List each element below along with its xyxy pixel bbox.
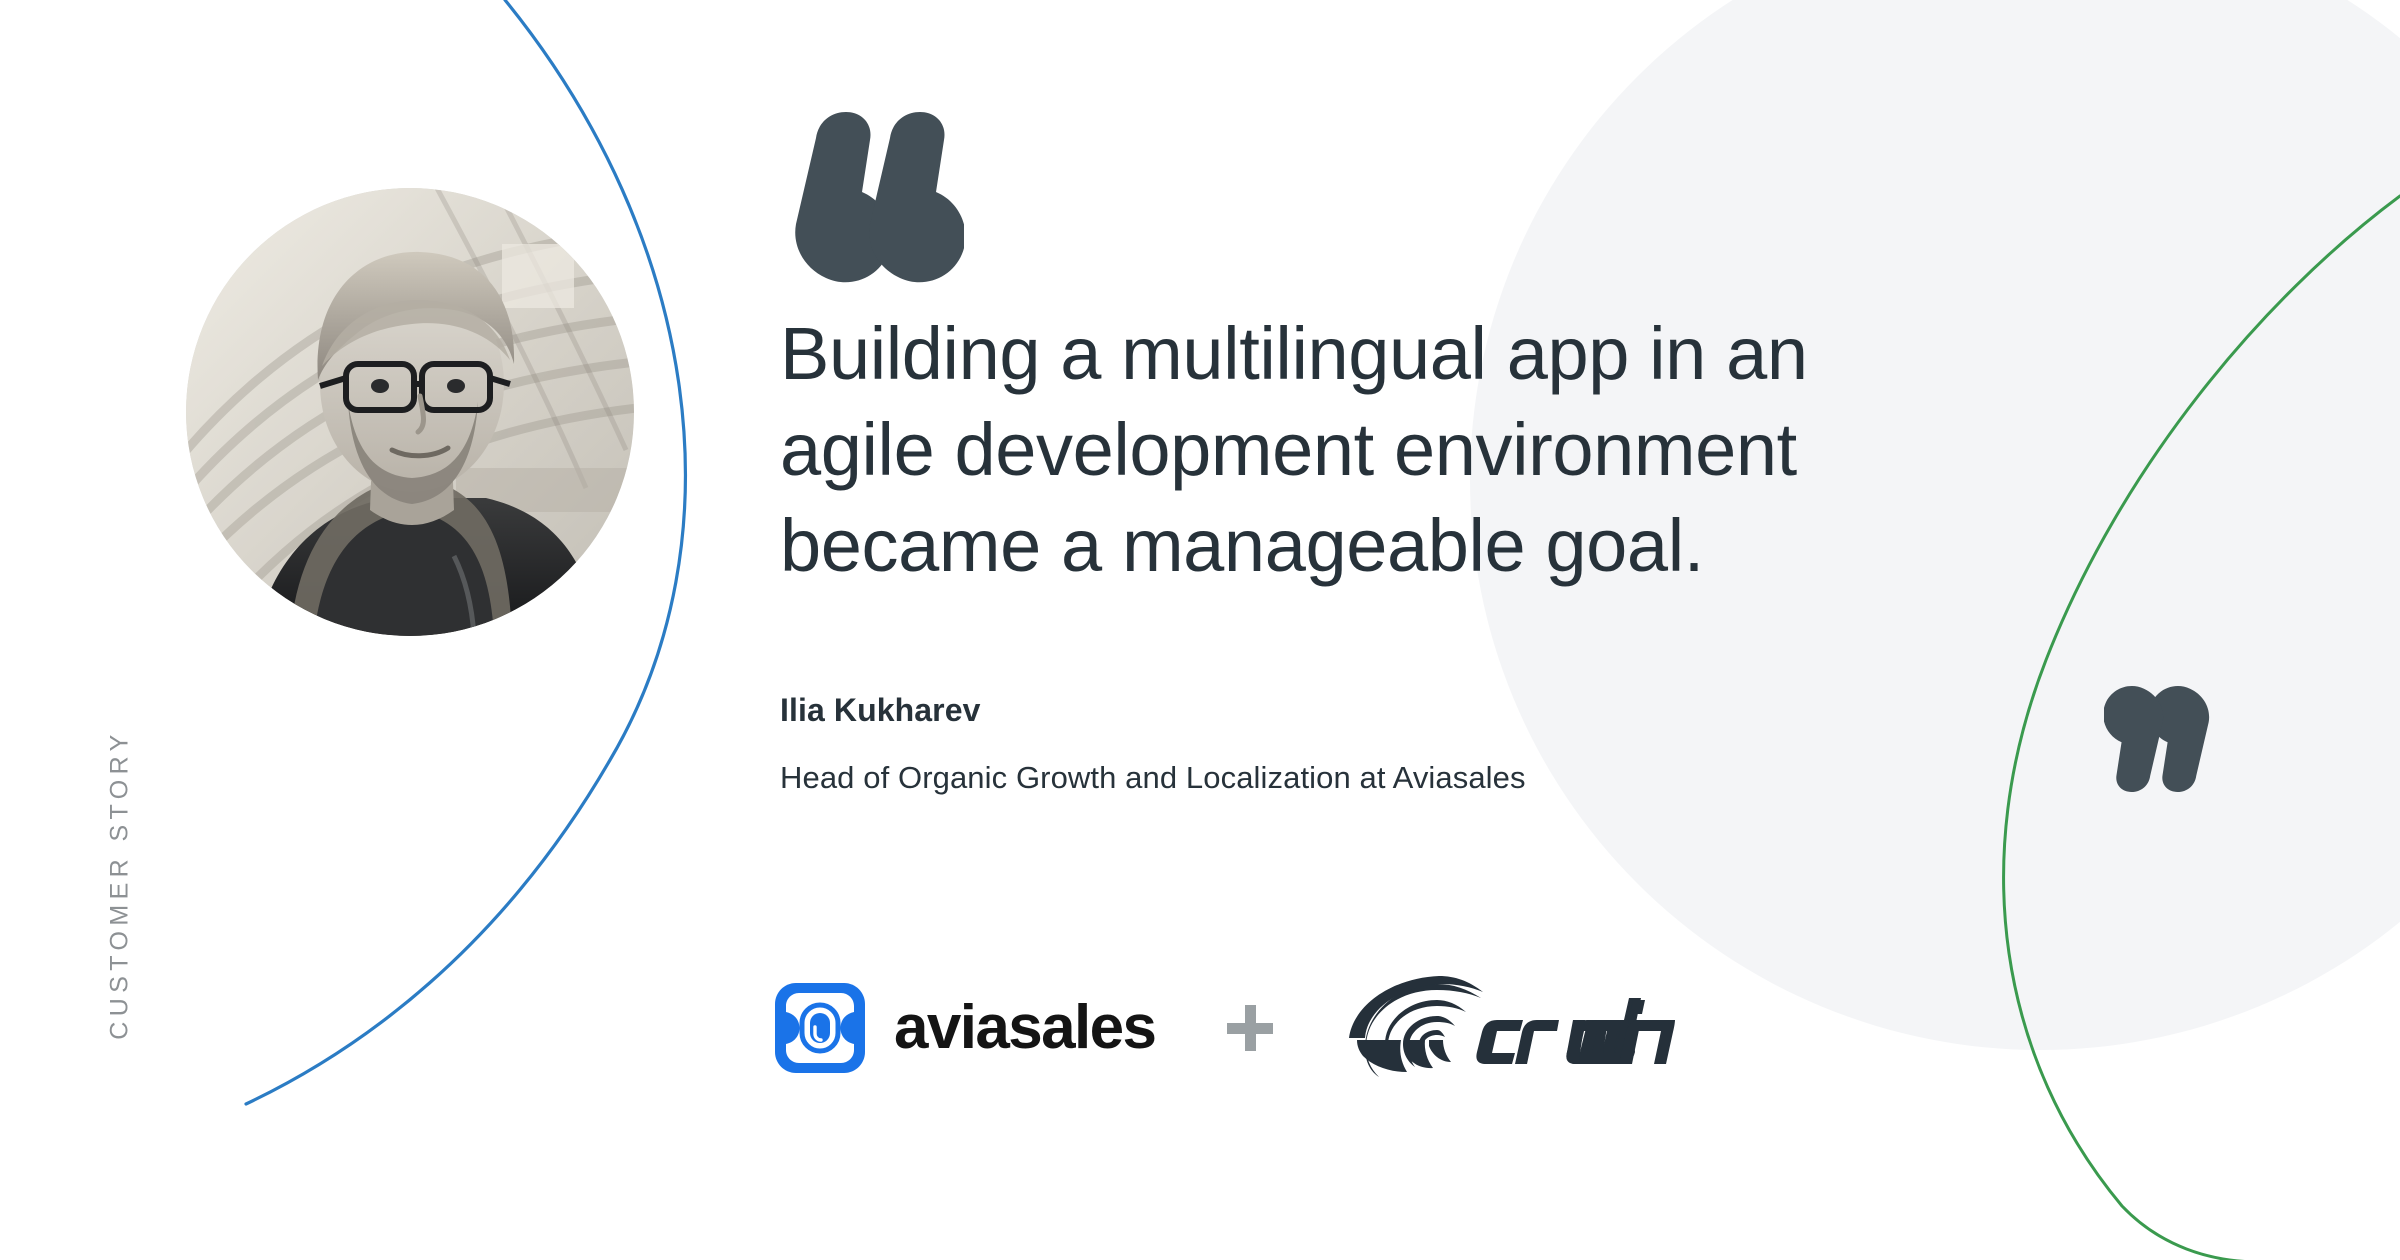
author-role: Head of Organic Growth and Localization … [780, 760, 1526, 796]
avatar [186, 188, 634, 636]
author-name: Ilia Kukharev [780, 692, 981, 729]
close-quote-icon [2104, 680, 2220, 792]
crowdin-swoosh-icon [1345, 976, 1681, 1080]
crowdin-logo[interactable] [1345, 976, 1681, 1080]
aviasales-wordmark: aviasales [894, 997, 1155, 1059]
logo-row: aviasales [772, 968, 1681, 1088]
quote-line-3: became a manageable goal. [780, 498, 2280, 594]
quote-text: Building a multilingual app in an agile … [780, 306, 2280, 595]
aviasales-logo[interactable]: aviasales [772, 980, 1155, 1076]
quote-line-2: agile development environment [780, 402, 2280, 498]
open-quote-icon [778, 112, 964, 292]
plus-separator-icon [1227, 1005, 1273, 1051]
customer-story-label: CUSTOMER STORY [106, 705, 135, 1065]
aviasales-icon [772, 980, 868, 1076]
portrait-photo [186, 188, 634, 636]
customer-story-banner: CUSTOMER STORY Building a multilingual a… [0, 0, 2400, 1260]
quote-line-1: Building a multilingual app in an [780, 306, 2280, 402]
